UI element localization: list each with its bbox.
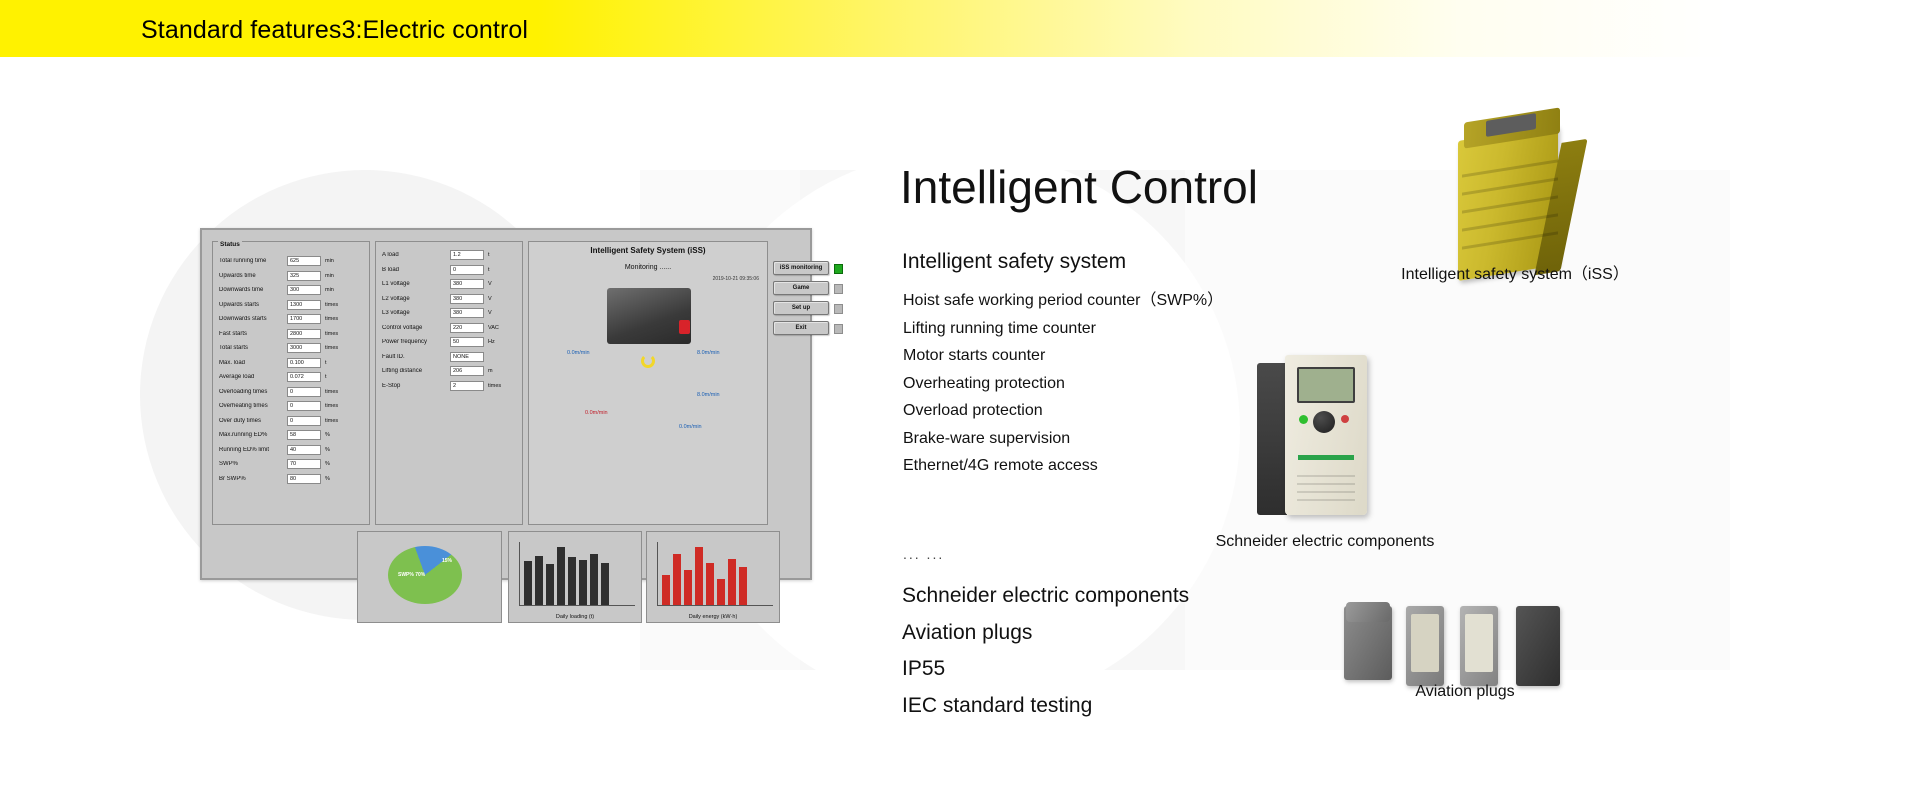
subheadline: Intelligent safety system	[902, 250, 1126, 274]
table-row: Upwards time325min	[217, 269, 367, 284]
row-label: Fault ID.	[380, 354, 450, 360]
row-label: A load	[380, 252, 450, 258]
row-value[interactable]: 380	[450, 279, 484, 289]
row-unit: times	[321, 418, 355, 424]
status-led	[834, 324, 843, 334]
plug-shell-c	[1460, 606, 1498, 686]
row-value[interactable]: 300	[287, 285, 321, 295]
row-unit: t	[484, 252, 518, 258]
row-unit: m	[484, 368, 518, 374]
page-banner: Standard features3:Electric control	[0, 0, 1920, 57]
table-row: Fault ID.NONE	[380, 350, 520, 365]
row-value[interactable]: 1.2	[450, 250, 484, 260]
chart-bar	[535, 556, 543, 605]
feature-item: Ethernet/4G remote access	[903, 452, 1223, 480]
row-value[interactable]: 625	[287, 256, 321, 266]
drive-vent-2	[1297, 483, 1355, 485]
drive-left-side	[1257, 363, 1287, 515]
row-label: Over duty times	[217, 418, 287, 424]
bar-chart-energy: Daily energy (kW·h)	[646, 531, 780, 623]
monitoring-date: 2019-10-21 09:35:06	[713, 276, 759, 282]
caption-intelligent-safety-system: Intelligent safety system（iSS）	[1340, 260, 1690, 284]
drive-knob-icon	[1313, 411, 1335, 433]
table-row: A load1.2t	[380, 248, 520, 263]
row-label: Control voltage	[380, 325, 450, 331]
row-unit: times	[321, 316, 355, 322]
status-group-label: Status	[218, 241, 242, 248]
row-value[interactable]: 70	[287, 459, 321, 469]
feature-list: Hoist safe working period counter（SWP%）L…	[903, 287, 1223, 480]
measurement-table: A load1.2tB load0tL1 voltage380VL2 volta…	[380, 248, 520, 393]
row-label: Max. load	[217, 360, 287, 366]
side-button-group[interactable]: iSS monitoringGameSet upExit	[773, 261, 815, 341]
table-row: Br SWP%80%	[217, 472, 367, 487]
row-unit: %	[321, 447, 355, 453]
chart-bar	[557, 547, 565, 605]
row-value[interactable]: 1700	[287, 314, 321, 324]
bar-chart-loading: Daily loading (t)	[508, 531, 642, 623]
row-unit: V	[484, 310, 518, 316]
plug-cap-a	[1346, 602, 1390, 622]
bars-energy	[657, 542, 773, 606]
row-unit: %	[321, 476, 355, 482]
table-row: Downwards starts1700times	[217, 312, 367, 327]
row-value[interactable]: 0.100	[287, 358, 321, 368]
drive-led-red	[1341, 415, 1349, 423]
row-label: Br SWP%	[217, 476, 287, 482]
feature-item: Lifting running time counter	[903, 315, 1223, 343]
row-unit: times	[321, 345, 355, 351]
row-value[interactable]: 325	[287, 271, 321, 281]
monitoring-subtitle: Monitoring ......	[529, 264, 767, 271]
speed-label: 8.0m/min	[697, 350, 720, 356]
row-unit: times	[484, 383, 518, 389]
speed-label: 8.0m/min	[697, 392, 720, 398]
hmi-side-button[interactable]: iSS monitoring	[773, 261, 829, 275]
table-row: Upwards starts1300times	[217, 298, 367, 313]
row-unit: min	[321, 273, 355, 279]
drive-vent-4	[1297, 499, 1355, 501]
chart-bar	[684, 570, 692, 605]
row-unit: min	[321, 258, 355, 264]
row-value[interactable]: 380	[450, 308, 484, 318]
table-row: SWP%70%	[217, 457, 367, 472]
hmi-side-button[interactable]: Game	[773, 281, 829, 295]
speed-label: 0.0m/min	[585, 410, 608, 416]
table-row: L2 voltage380V	[380, 292, 520, 307]
hoist-illustration	[607, 288, 691, 344]
plug-shell-a	[1344, 606, 1392, 680]
row-value[interactable]: 2	[450, 381, 484, 391]
row-label: Upwards starts	[217, 302, 287, 308]
row-value[interactable]: NONE	[450, 352, 484, 362]
caption-schneider-components: Schneider electric components	[1190, 533, 1460, 551]
plug-shell-b	[1406, 606, 1444, 686]
pie-chart: 15% SWP% 70%	[357, 531, 502, 623]
chart-strip: 15% SWP% 70% Daily loading (t) Daily ene…	[212, 531, 768, 623]
row-unit: %	[321, 432, 355, 438]
row-label: Total starts	[217, 345, 287, 351]
row-label: Downwards time	[217, 287, 287, 293]
table-row: L1 voltage380V	[380, 277, 520, 292]
table-row: Lifting distance206m	[380, 364, 520, 379]
table-row: B load0t	[380, 263, 520, 278]
row-unit: times	[321, 389, 355, 395]
row-unit: t	[484, 267, 518, 273]
highlight-item: Aviation plugs	[902, 615, 1189, 652]
row-value[interactable]: 80	[287, 474, 321, 484]
row-label: B load	[380, 267, 450, 273]
bar-chart-energy-caption: Daily energy (kW·h)	[647, 614, 779, 620]
table-row: Max.running ED%58%	[217, 428, 367, 443]
table-row: Power frequency50Hz	[380, 335, 520, 350]
status-table: Total running time625minUpwards time325m…	[217, 254, 367, 486]
feature-item: Overheating protection	[903, 370, 1223, 398]
plug-shell-d	[1516, 606, 1560, 686]
row-unit: t	[321, 374, 355, 380]
row-label: Lifting distance	[380, 368, 450, 374]
row-label: Power frequency	[380, 339, 450, 345]
row-value[interactable]: 0.072	[287, 372, 321, 382]
row-label: Total running time	[217, 258, 287, 264]
chart-bar	[568, 557, 576, 605]
row-label: Overheating times	[217, 403, 287, 409]
chart-bar	[524, 561, 532, 605]
row-unit: times	[321, 331, 355, 337]
row-value[interactable]: 0	[450, 265, 484, 275]
table-row: Total starts3000times	[217, 341, 367, 356]
feature-item: Hoist safe working period counter（SWP%）	[903, 287, 1223, 315]
table-row: Average load0.072t	[217, 370, 367, 385]
highlight-item: IEC standard testing	[902, 688, 1189, 725]
chart-bar	[546, 564, 554, 605]
chart-bar	[601, 563, 609, 605]
aviation-plugs-image	[1340, 600, 1590, 695]
status-led	[834, 304, 843, 314]
drive-vent-1	[1297, 475, 1355, 477]
drive-led-green	[1299, 415, 1308, 424]
chart-bar	[739, 567, 747, 605]
table-row: Overloading times0times	[217, 385, 367, 400]
table-row: E-Stop2times	[380, 379, 520, 394]
bar-chart-loading-caption: Daily loading (t)	[509, 614, 641, 620]
row-unit: times	[321, 302, 355, 308]
row-value[interactable]: 220	[450, 323, 484, 333]
ellipsis-marker: ... ...	[903, 546, 944, 562]
monitoring-title: Intelligent Safety System (iSS)	[529, 246, 767, 255]
chart-bar	[590, 554, 598, 605]
row-value[interactable]: 206	[450, 366, 484, 376]
row-label: L2 voltage	[380, 296, 450, 302]
table-row: Control voltage220VAC	[380, 321, 520, 336]
status-led	[834, 264, 843, 274]
table-row: Overheating times0times	[217, 399, 367, 414]
schneider-drive-image	[1255, 345, 1390, 525]
row-label: Fast starts	[217, 331, 287, 337]
row-unit: times	[321, 403, 355, 409]
status-group: Status Total running time625minUpwards t…	[212, 241, 370, 525]
row-unit: %	[321, 461, 355, 467]
chart-bar	[673, 554, 681, 605]
row-unit: min	[321, 287, 355, 293]
row-value[interactable]: 40	[287, 445, 321, 455]
headline: Intelligent Control	[900, 160, 1258, 214]
pie-slice-label-0: 15%	[442, 558, 452, 564]
table-row: Running ED% limit40%	[217, 443, 367, 458]
row-label: Downwards starts	[217, 316, 287, 322]
drive-screen	[1297, 367, 1355, 403]
row-unit: V	[484, 281, 518, 287]
table-row: Fast starts2800times	[217, 327, 367, 342]
bars-loading	[519, 542, 635, 606]
row-label: L3 voltage	[380, 310, 450, 316]
plug-core-c	[1465, 614, 1493, 672]
row-unit: VAC	[484, 325, 518, 331]
feature-item: Motor starts counter	[903, 342, 1223, 370]
row-value[interactable]: 380	[450, 294, 484, 304]
row-label: Running ED% limit	[217, 447, 287, 453]
page-title: Standard features3:Electric control	[141, 16, 528, 45]
table-row: Total running time625min	[217, 254, 367, 269]
hook-icon	[641, 354, 655, 368]
table-row: L3 voltage380V	[380, 306, 520, 321]
feature-item: Overload protection	[903, 397, 1223, 425]
highlight-item: Schneider electric components	[902, 578, 1189, 615]
drive-brand-bar	[1298, 455, 1354, 460]
row-value[interactable]: 58	[287, 430, 321, 440]
drive-vent-3	[1297, 491, 1355, 493]
chart-bar	[579, 560, 587, 605]
table-row: Max. load0.100t	[217, 356, 367, 371]
table-row: Downwards time300min	[217, 283, 367, 298]
row-label: Overloading times	[217, 389, 287, 395]
row-unit: Hz	[484, 339, 518, 345]
speed-label: 0.0m/min	[679, 424, 702, 430]
chart-bar	[706, 563, 714, 605]
hmi-screenshot: Status Total running time625minUpwards t…	[200, 228, 812, 580]
highlight-list: Schneider electric componentsAviation pl…	[902, 578, 1189, 724]
plug-core-b	[1411, 614, 1439, 672]
row-unit: t	[321, 360, 355, 366]
highlight-item: IP55	[902, 651, 1189, 688]
row-value[interactable]: 0	[287, 416, 321, 426]
chart-bar	[717, 579, 725, 605]
row-label: E-Stop	[380, 383, 450, 389]
row-value[interactable]: 3000	[287, 343, 321, 353]
row-value[interactable]: 1300	[287, 300, 321, 310]
hoist-red-marker	[679, 320, 690, 334]
table-row: Over duty times0times	[217, 414, 367, 429]
chart-bar	[728, 559, 736, 605]
feature-item: Brake-ware supervision	[903, 425, 1223, 453]
row-value[interactable]: 0	[287, 387, 321, 397]
row-value[interactable]: 0	[287, 401, 321, 411]
hmi-side-button[interactable]: Set up	[773, 301, 829, 315]
row-label: Max.running ED%	[217, 432, 287, 438]
row-label: SWP%	[217, 461, 287, 467]
monitoring-panel: Intelligent Safety System (iSS) Monitori…	[528, 241, 768, 525]
chart-bar	[695, 547, 703, 605]
chart-bar	[662, 575, 670, 605]
caption-aviation-plugs: Aviation plugs	[1330, 683, 1600, 701]
status-led	[834, 284, 843, 294]
speed-label: 0.0m/min	[567, 350, 590, 356]
row-label: Upwards time	[217, 273, 287, 279]
hmi-side-button[interactable]: Exit	[773, 321, 829, 335]
row-label: Average load	[217, 374, 287, 380]
row-unit: V	[484, 296, 518, 302]
row-value[interactable]: 50	[450, 337, 484, 347]
row-value[interactable]: 2800	[287, 329, 321, 339]
pie-slice-label-1: SWP% 70%	[398, 572, 425, 578]
measurement-group: A load1.2tB load0tL1 voltage380VL2 volta…	[375, 241, 523, 525]
row-label: L1 voltage	[380, 281, 450, 287]
